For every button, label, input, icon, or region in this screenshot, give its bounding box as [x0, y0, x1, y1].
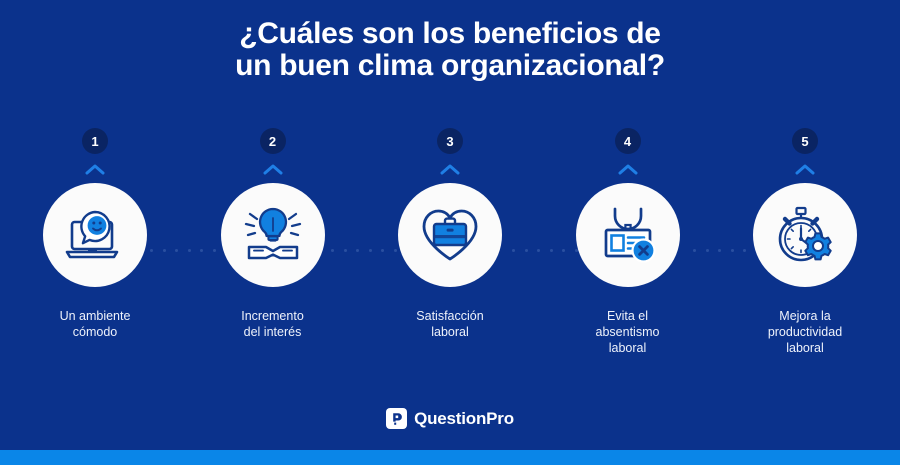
title-line-1: ¿Cuáles son los beneficios de — [0, 18, 900, 50]
dot — [394, 249, 397, 252]
dot — [331, 249, 334, 252]
icon-circle-3 — [398, 183, 502, 287]
infographic-canvas: ¿Cuáles son los beneficios de un buen cl… — [0, 0, 900, 465]
dot — [163, 249, 166, 252]
dot — [743, 249, 746, 252]
dot — [188, 249, 191, 252]
step-label-5: Mejora la productividad laboral — [735, 308, 875, 356]
icon-circle-1 — [43, 183, 147, 287]
dot — [150, 249, 153, 252]
connector-dots-4-5 — [693, 248, 759, 252]
step-label-4-line-3: laboral — [558, 340, 698, 356]
dot — [344, 249, 347, 252]
dot — [512, 249, 515, 252]
logo-p-glyph — [390, 412, 404, 426]
step-label-4: Evita el absentismo laboral — [558, 308, 698, 356]
chevron-up-icon — [85, 163, 105, 175]
step-item-1[interactable]: 1 — [20, 128, 170, 408]
page-title: ¿Cuáles son los beneficios de un buen cl… — [0, 18, 900, 82]
step-label-5-line-2: productividad — [735, 324, 875, 340]
brand-footer[interactable]: QuestionPro — [0, 408, 900, 429]
step-label-4-line-1: Evita el — [558, 308, 698, 324]
step-item-5[interactable]: 5 — [730, 128, 880, 408]
step-number-badge-2: 2 — [260, 128, 286, 154]
heart-briefcase-icon — [420, 207, 480, 263]
step-label-5-line-3: laboral — [735, 340, 875, 356]
dot — [562, 249, 565, 252]
step-label-2: Incremento del interés — [203, 308, 343, 340]
step-item-2[interactable]: 2 — [198, 128, 348, 408]
dot — [369, 249, 372, 252]
dot — [718, 249, 721, 252]
step-label-2-line-1: Incremento — [203, 308, 343, 324]
dot — [731, 249, 734, 252]
dot — [200, 249, 203, 252]
step-number-badge-1: 1 — [82, 128, 108, 154]
dot — [550, 249, 553, 252]
connector-dots-3-4 — [512, 248, 578, 252]
id-badge-cross-icon — [598, 206, 658, 264]
connector-dots-1-2 — [150, 248, 216, 252]
dot — [693, 249, 696, 252]
questionpro-logo-icon — [386, 408, 407, 429]
step-label-4-line-2: absentismo — [558, 324, 698, 340]
step-label-1: Un ambiente cómodo — [25, 308, 165, 340]
connector-dots-2-3 — [331, 248, 397, 252]
chevron-up-icon — [795, 163, 815, 175]
icon-circle-5 — [753, 183, 857, 287]
dot — [213, 249, 216, 252]
chevron-up-icon — [618, 163, 638, 175]
step-label-1-line-1: Un ambiente — [25, 308, 165, 324]
icon-circle-2 — [221, 183, 325, 287]
dot — [381, 249, 384, 252]
dot — [706, 249, 709, 252]
chevron-up-icon — [440, 163, 460, 175]
step-label-2-line-2: del interés — [203, 324, 343, 340]
dot — [175, 249, 178, 252]
dot — [537, 249, 540, 252]
step-item-3[interactable]: 3 Satisfacción laboral — [375, 128, 525, 408]
step-label-3-line-2: laboral — [380, 324, 520, 340]
step-label-3-line-1: Satisfacción — [380, 308, 520, 324]
step-label-5-line-1: Mejora la — [735, 308, 875, 324]
step-label-3: Satisfacción laboral — [380, 308, 520, 340]
step-number-badge-3: 3 — [437, 128, 463, 154]
bottom-accent-band — [0, 450, 900, 465]
lightbulb-book-icon — [243, 206, 303, 264]
dot — [525, 249, 528, 252]
dot — [356, 249, 359, 252]
laptop-chat-smiley-icon — [64, 206, 126, 264]
chevron-up-icon — [263, 163, 283, 175]
brand-name: QuestionPro — [414, 409, 514, 429]
step-number-badge-4: 4 — [615, 128, 641, 154]
title-line-2: un buen clima organizacional? — [0, 50, 900, 82]
step-label-1-line-2: cómodo — [25, 324, 165, 340]
step-item-4[interactable]: 4 — [553, 128, 703, 408]
steps-row: 1 — [0, 128, 900, 408]
stopwatch-gear-icon — [775, 206, 835, 264]
step-number-badge-5: 5 — [792, 128, 818, 154]
icon-circle-4 — [576, 183, 680, 287]
